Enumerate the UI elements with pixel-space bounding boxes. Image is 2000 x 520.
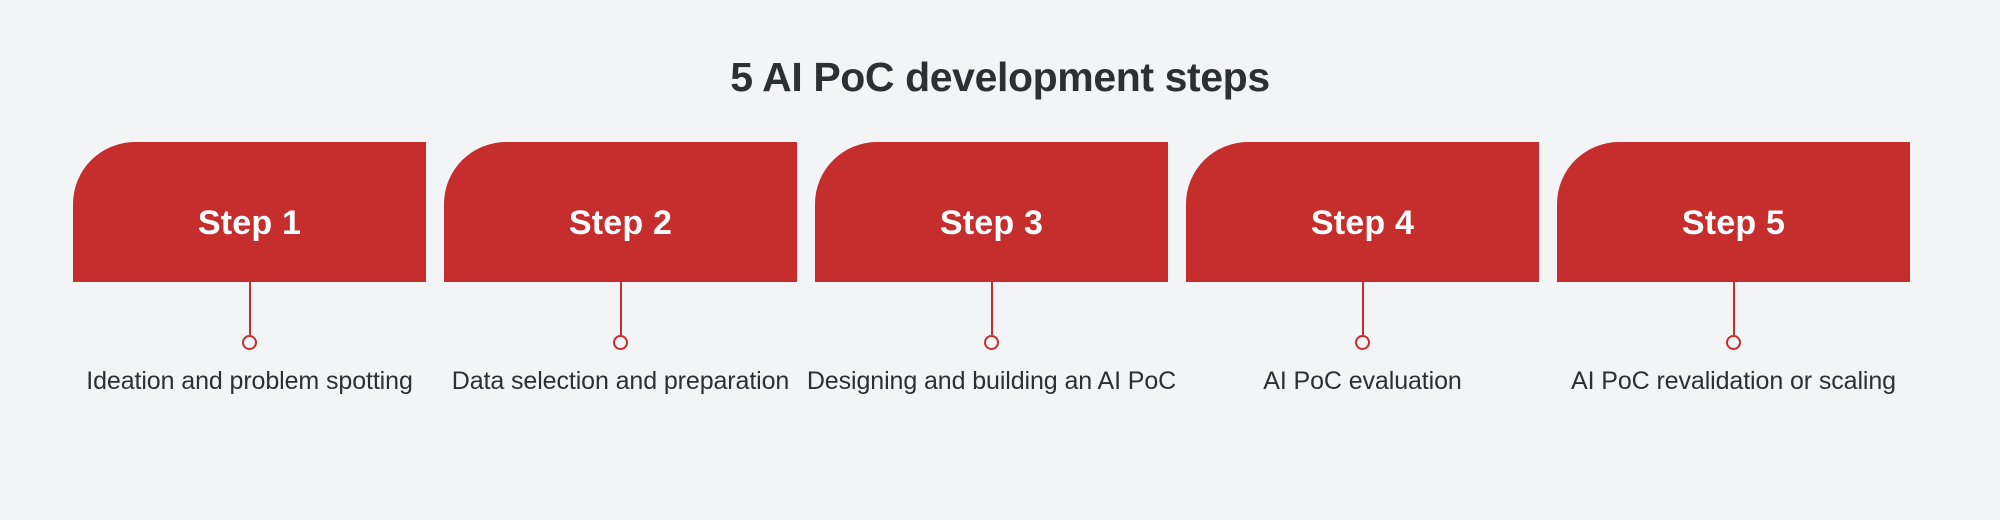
connector-line-icon: [991, 282, 993, 335]
connector-line-icon: [1733, 282, 1735, 335]
step-badge-label-3: Step 3: [940, 206, 1043, 240]
connector-line-icon: [249, 282, 251, 335]
page-title: 5 AI PoC development steps: [0, 53, 2000, 102]
connector-line-icon: [1362, 282, 1364, 335]
step-connector-1: [240, 282, 260, 352]
step-connector-4: [1353, 282, 1373, 352]
connector-line-icon: [620, 282, 622, 335]
step-connector-2: [611, 282, 631, 352]
steps-rail: Step 1 Ideation and problem spotting Ste…: [73, 142, 1927, 442]
infographic-canvas: 5 AI PoC development steps Step 1 Ideati…: [0, 0, 2000, 520]
connector-ring-icon: [1355, 335, 1370, 350]
step-connector-3: [982, 282, 1002, 352]
step-badge-label-4: Step 4: [1311, 206, 1414, 240]
connector-ring-icon: [613, 335, 628, 350]
step-banner-1[interactable]: Step 1: [73, 142, 426, 282]
connector-ring-icon: [1726, 335, 1741, 350]
step-item-2: Step 2 Data selection and preparation: [444, 142, 797, 442]
step-item-4: Step 4 AI PoC evaluation: [1186, 142, 1539, 442]
connector-ring-icon: [242, 335, 257, 350]
step-caption-5: AI PoC revalidation or scaling: [1545, 364, 1922, 400]
connector-ring-icon: [984, 335, 999, 350]
step-connector-5: [1724, 282, 1744, 352]
step-caption-1: Ideation and problem spotting: [61, 364, 438, 400]
step-caption-4: AI PoC evaluation: [1174, 364, 1551, 400]
step-item-1: Step 1 Ideation and problem spotting: [73, 142, 426, 442]
step-caption-3: Designing and building an AI PoC: [803, 364, 1180, 400]
step-badge-label-2: Step 2: [569, 206, 672, 240]
step-banner-2[interactable]: Step 2: [444, 142, 797, 282]
step-badge-label-5: Step 5: [1682, 206, 1785, 240]
step-badge-label-1: Step 1: [198, 206, 301, 240]
step-banner-5[interactable]: Step 5: [1557, 142, 1910, 282]
step-item-3: Step 3 Designing and building an AI PoC: [815, 142, 1168, 442]
step-caption-2: Data selection and preparation: [432, 364, 809, 400]
step-item-5: Step 5 AI PoC revalidation or scaling: [1557, 142, 1910, 442]
step-banner-3[interactable]: Step 3: [815, 142, 1168, 282]
step-banner-4[interactable]: Step 4: [1186, 142, 1539, 282]
